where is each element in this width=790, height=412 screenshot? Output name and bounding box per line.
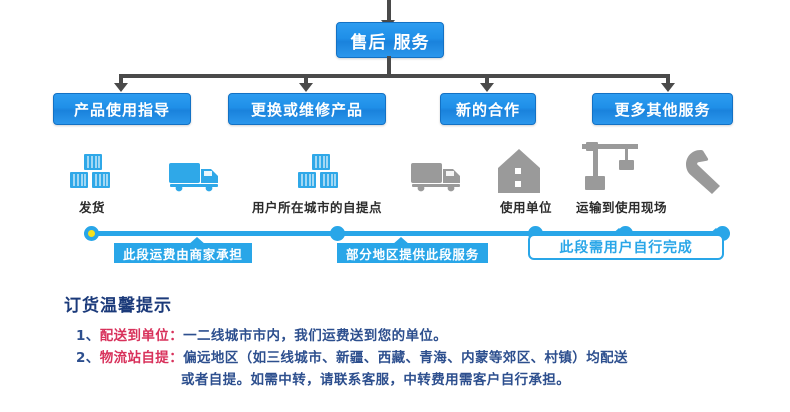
- truck-gray-icon: [410, 159, 466, 192]
- branch-arrow-icon-3: [661, 83, 675, 92]
- branch-arrow-icon-2: [480, 83, 494, 92]
- timeline-label-using-unit: 使用单位: [500, 197, 552, 216]
- cargo-containers-icon: [296, 152, 346, 192]
- flow-node-new-cooperation[interactable]: 新的合作: [440, 93, 536, 125]
- branch-arrow-icon-1: [299, 83, 313, 92]
- crane-icon: [576, 142, 642, 194]
- note-number-2: 2、: [76, 347, 100, 369]
- note-body-2: 偏远地区（如三线城市、新疆、西藏、青海、内蒙等郊区、村镇）均配送: [183, 347, 784, 369]
- timeline-label-transport-to-site: 运输到使用现场: [576, 197, 667, 216]
- house-icon: [494, 148, 544, 194]
- flow-node-replace-or-repair[interactable]: 更换或维修产品: [228, 93, 386, 125]
- flow-node-more-services[interactable]: 更多其他服务: [592, 93, 733, 125]
- branch-arrow-icon-0: [114, 83, 128, 92]
- note-key-2: 物流站自提：: [100, 347, 183, 369]
- segment-badge-user-self-complete: 此段需用户自行完成: [528, 234, 724, 260]
- segment-badge-merchant-pays: 此段运费由商家承担: [114, 243, 252, 263]
- after-sales-service-infographic: 售后 服务 产品使用指导 更换或维修产品 新的合作 更多其他服务: [0, 0, 790, 412]
- note-item-2: 2、 物流站自提： 偏远地区（如三线城市、新疆、西藏、青海、内蒙等郊区、村镇）均…: [76, 347, 784, 369]
- note-body-1: 一二线城市市内，我们运费送到您的单位。: [183, 325, 784, 347]
- note-item-1: 1、 配送到单位： 一二线城市市内，我们运费送到您的单位。: [76, 325, 784, 347]
- note-key-1: 配送到单位：: [100, 325, 183, 347]
- segment-badge-partial-areas: 部分地区提供此段服务: [337, 243, 488, 263]
- timeline-dot-pickup[interactable]: [330, 226, 345, 241]
- order-notes-section: 订货温馨提示 1、 配送到单位： 一二线城市市内，我们运费送到您的单位。 2、 …: [64, 291, 784, 391]
- flow-horizontal-bus: [121, 74, 668, 78]
- cargo-containers-icon: [68, 152, 118, 192]
- timeline-dot-start[interactable]: [84, 226, 99, 241]
- notes-title: 订货温馨提示: [64, 291, 784, 316]
- flow-root-node[interactable]: 售后 服务: [336, 22, 444, 58]
- truck-blue-icon: [168, 159, 224, 192]
- timeline-label-shipping: 发货: [79, 197, 105, 216]
- timeline-label-pickup-point: 用户所在城市的自提点: [252, 197, 382, 216]
- flow-node-product-usage-guide[interactable]: 产品使用指导: [53, 93, 191, 125]
- note-body-2-continuation: 或者自提。如需中转，请联系客服，中转费用需客户自行承担。: [181, 369, 784, 391]
- wrench-icon: [684, 148, 732, 194]
- note-number-1: 1、: [76, 325, 100, 347]
- root-outbound-line: [387, 56, 391, 76]
